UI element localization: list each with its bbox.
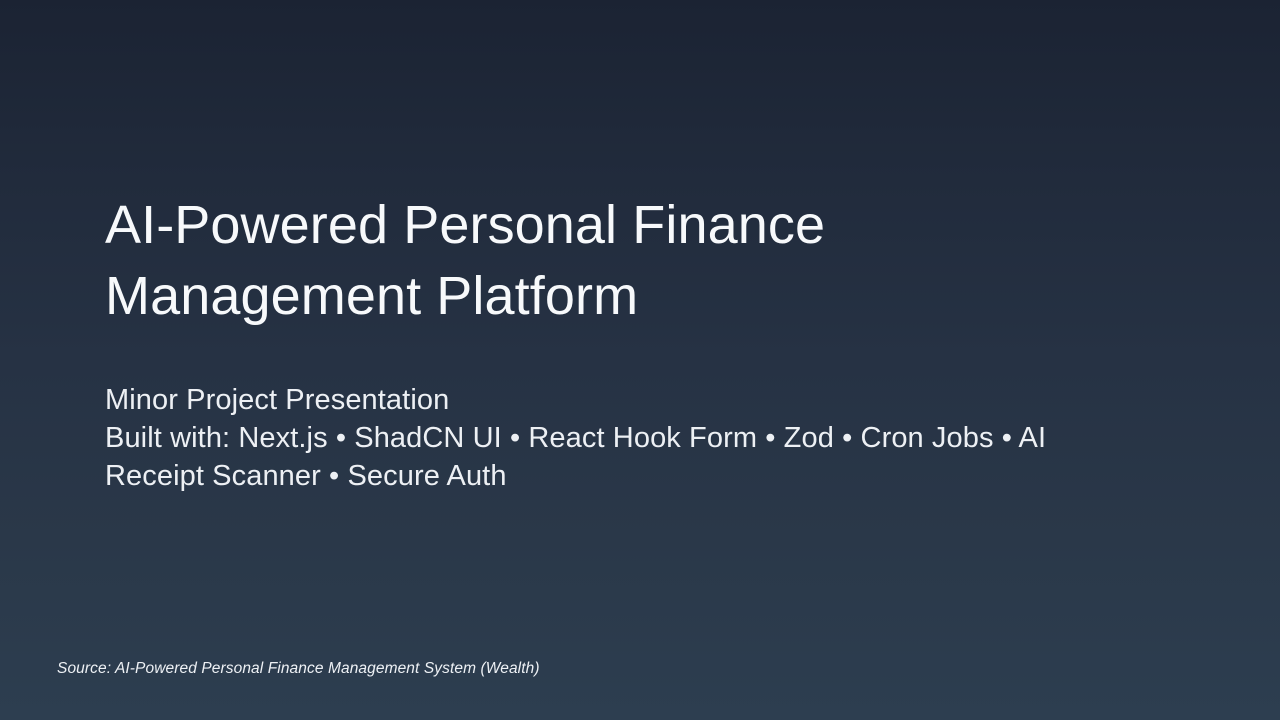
subtitle-block: Minor Project Presentation Built with: N… bbox=[105, 381, 1140, 495]
page-title: AI-Powered Personal Finance Management P… bbox=[105, 190, 1145, 332]
source-caption: Source: AI-Powered Personal Finance Mana… bbox=[57, 658, 540, 680]
presentation-subtitle: Minor Project Presentation bbox=[105, 381, 1140, 419]
built-with-text: Built with: Next.js • ShadCN UI • React … bbox=[105, 419, 1140, 495]
presentation-slide: AI-Powered Personal Finance Management P… bbox=[0, 0, 1280, 720]
title-block: AI-Powered Personal Finance Management P… bbox=[105, 190, 1145, 332]
